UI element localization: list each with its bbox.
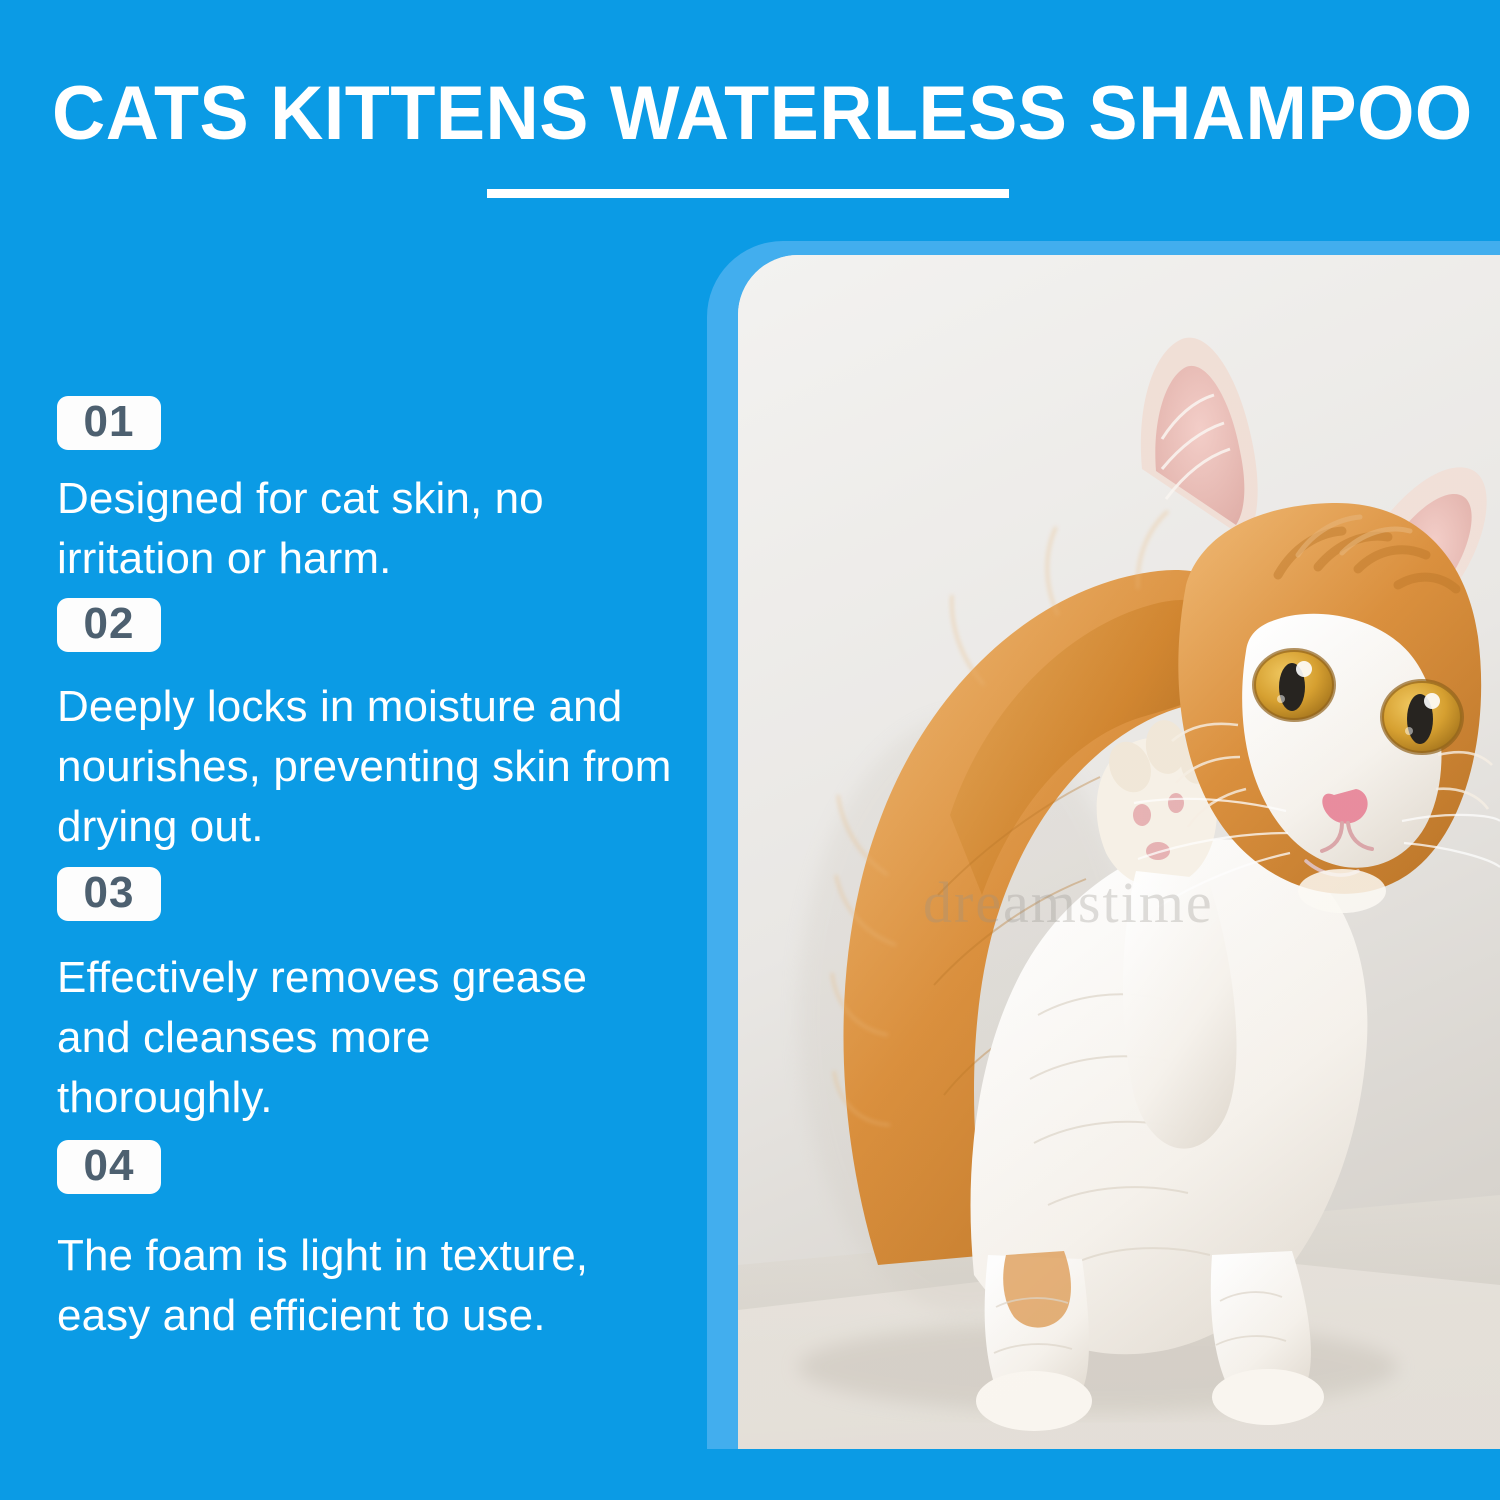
feature-number-badge-04: 04 <box>57 1140 161 1194</box>
feature-number-badge-02: 02 <box>57 598 161 652</box>
feature-number-badge-03: 03 <box>57 867 161 921</box>
feature-text-04: The foam is light in texture, easy and e… <box>57 1226 677 1346</box>
feature-item-01: 01 Designed for cat skin, no irritation … <box>57 396 697 589</box>
feature-item-02: 02 Deeply locks in moisture and nourishe… <box>57 598 697 857</box>
product-photo-panel: dreamstime <box>707 241 1500 1449</box>
feature-text-02: Deeply locks in moisture and nourishes, … <box>57 677 677 857</box>
feature-list: 01 Designed for cat skin, no irritation … <box>57 396 697 1346</box>
feature-text-03: Effectively removes grease and cleanses … <box>57 948 637 1128</box>
page-title: CATS KITTENS WATERLESS SHAMPOO <box>52 74 1420 154</box>
feature-text-01: Designed for cat skin, no irritation or … <box>57 469 677 589</box>
feature-number-badge-01: 01 <box>57 396 161 450</box>
feature-item-03: 03 Effectively removes grease and cleans… <box>57 867 697 1128</box>
cat-illustration <box>738 255 1500 1449</box>
cat-photo: dreamstime <box>738 255 1500 1449</box>
title-divider <box>487 189 1009 198</box>
feature-item-04: 04 The foam is light in texture, easy an… <box>57 1140 697 1346</box>
